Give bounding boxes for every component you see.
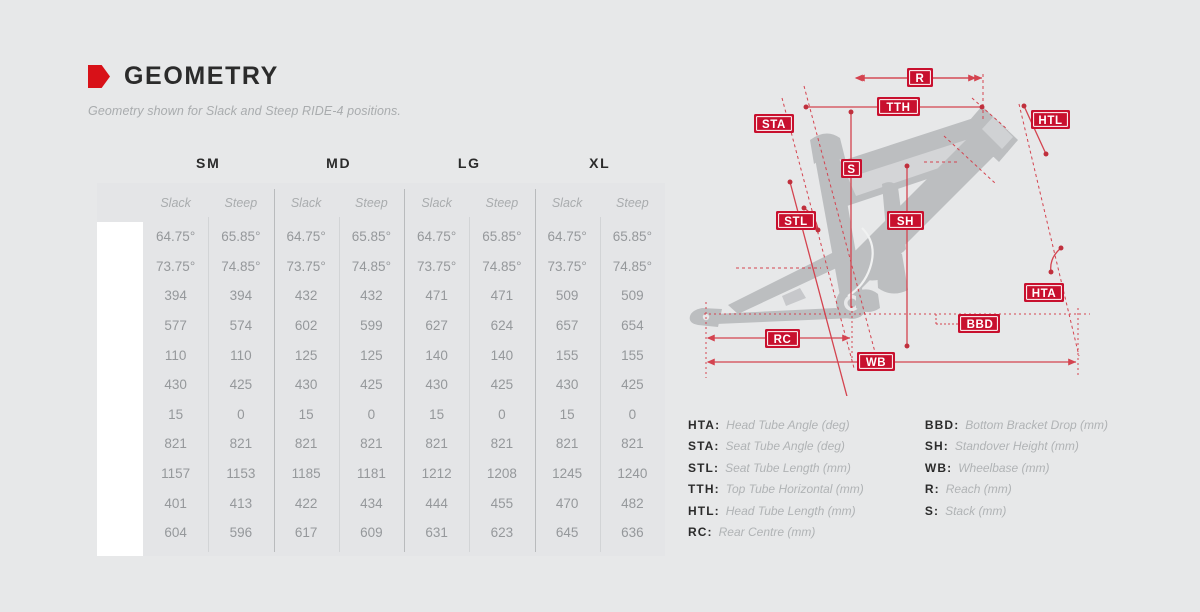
size-header-xl: XL [535,155,666,183]
cell-rc-xl-steep: 425 [600,377,665,392]
red-triangle-flag-icon [88,65,110,88]
cell-stl-md-steep: 432 [339,288,404,303]
cell-htl-lg-slack: 140 [404,348,469,363]
cell-sh-lg-steep: 821 [469,436,534,451]
svg-text:SH: SH [897,216,914,228]
legend-item: R:Reach (mm) [925,482,1108,503]
cell-htl-md-steep: 125 [339,348,404,363]
cell-stl-sm-slack: 394 [143,288,208,303]
cell-hta-lg-steep: 65.85° [469,229,534,244]
page-subtitle: Geometry shown for Slack and Steep RIDE-… [88,104,401,118]
cell-s-xl-steep: 636 [600,525,665,540]
geometry-table: SM MD LG XL Slack Steep Slack Steep Slac… [97,155,665,556]
position-header-lg-slack: Slack [404,196,469,210]
column-separator-minor [339,217,340,552]
cell-sh-xl-slack: 821 [535,436,600,451]
legend-item: TTH:Top Tube Horizontal (mm) [688,482,899,503]
cell-r-md-steep: 434 [339,496,404,511]
legend-column-right: BBD:Bottom Bracket Drop (mm)SH:Standover… [925,418,1108,546]
cell-sta-xl-steep: 74.85° [600,259,665,274]
legend: HTA:Head Tube Angle (deg)STA:Seat Tube A… [688,418,1108,546]
position-header-md-steep: Steep [339,196,404,210]
table-row: STL394394432432471471509509 [97,281,665,311]
cell-bbd-lg-slack: 15 [404,407,469,422]
cell-rc-sm-slack: 430 [143,377,208,392]
cell-sta-lg-steep: 74.85° [469,259,534,274]
cell-s-md-slack: 617 [274,525,339,540]
cell-sta-lg-slack: 73.75° [404,259,469,274]
cell-wb-xl-slack: 1245 [535,466,600,481]
cell-sh-sm-slack: 821 [143,436,208,451]
cell-sh-sm-steep: 821 [208,436,273,451]
column-separator-major [274,189,275,552]
column-separator-minor [469,217,470,552]
callout-bbd: BBD [958,314,1000,333]
cell-r-sm-slack: 401 [143,496,208,511]
table-body: Slack Steep Slack Steep Slack Steep Slac… [97,183,665,556]
cell-sta-sm-slack: 73.75° [143,259,208,274]
legend-description: Bottom Bracket Drop (mm) [965,418,1108,432]
cell-hta-xl-slack: 64.75° [535,229,600,244]
cell-s-sm-slack: 604 [143,525,208,540]
cell-rc-lg-slack: 430 [404,377,469,392]
cell-s-lg-slack: 631 [404,525,469,540]
cell-hta-xl-steep: 65.85° [600,229,665,244]
cell-htl-lg-steep: 140 [469,348,534,363]
svg-text:BBD: BBD [967,319,994,331]
callout-r: R [907,68,933,87]
svg-text:R: R [916,73,925,85]
position-header-lg-steep: Steep [469,196,534,210]
legend-item: HTL:Head Tube Length (mm) [688,504,899,525]
cell-tth-md-steep: 599 [339,318,404,333]
legend-description: Head Tube Angle (deg) [726,418,849,432]
table-rows: HTA64.75°65.85°64.75°65.85°64.75°65.85°6… [97,222,665,556]
legend-description: Rear Centre (mm) [719,525,816,539]
size-header-spacer [97,155,143,183]
cell-sta-md-slack: 73.75° [274,259,339,274]
cell-wb-lg-steep: 1208 [469,466,534,481]
cell-htl-xl-steep: 155 [600,348,665,363]
legend-item: WB:Wheelbase (mm) [925,461,1108,482]
cell-htl-md-slack: 125 [274,348,339,363]
cell-htl-xl-slack: 155 [535,348,600,363]
position-header-xl-slack: Slack [535,196,600,210]
position-header-row: Slack Steep Slack Steep Slack Steep Slac… [97,183,665,222]
cell-bbd-sm-slack: 15 [143,407,208,422]
legend-abbr: STL: [688,461,719,475]
cell-s-md-steep: 609 [339,525,404,540]
legend-abbr: HTA: [688,418,720,432]
cell-wb-sm-steep: 1153 [208,466,273,481]
cell-hta-lg-slack: 64.75° [404,229,469,244]
legend-description: Seat Tube Length (mm) [725,461,851,475]
cell-r-xl-steep: 482 [600,496,665,511]
cell-stl-lg-slack: 471 [404,288,469,303]
svg-text:RC: RC [774,334,792,346]
legend-abbr: WB: [925,461,952,475]
svg-text:TTH: TTH [886,102,910,114]
callout-rc: RC [765,329,800,348]
cell-r-sm-steep: 413 [208,496,273,511]
svg-text:WB: WB [866,357,886,369]
callout-sta: STA [754,114,794,133]
size-header-md: MD [274,155,405,183]
cell-sh-md-slack: 821 [274,436,339,451]
cell-sh-lg-slack: 821 [404,436,469,451]
cell-tth-lg-slack: 627 [404,318,469,333]
cell-rc-sm-steep: 425 [208,377,273,392]
size-header-lg: LG [404,155,535,183]
legend-item: HTA:Head Tube Angle (deg) [688,418,899,439]
callout-htl: HTL [1031,110,1070,129]
title-row: GEOMETRY [88,62,401,91]
column-separator-minor [600,217,601,552]
cell-hta-sm-slack: 64.75° [143,229,208,244]
cell-r-lg-slack: 444 [404,496,469,511]
cell-stl-xl-steep: 509 [600,288,665,303]
cell-rc-md-slack: 430 [274,377,339,392]
cell-stl-sm-steep: 394 [208,288,273,303]
position-header-sm-steep: Steep [208,196,273,210]
legend-item: S:Stack (mm) [925,504,1108,525]
cell-s-lg-steep: 623 [469,525,534,540]
column-separator-major [404,189,405,552]
cell-r-lg-steep: 455 [469,496,534,511]
position-header-md-slack: Slack [274,196,339,210]
cell-tth-md-slack: 602 [274,318,339,333]
cell-rc-lg-steep: 425 [469,377,534,392]
table-row: SH821821821821821821821821 [97,429,665,459]
table-row: TTH577574602599627624657654 [97,311,665,341]
callout-badges: R TTH STA HTL S STL [754,68,1070,371]
cell-s-sm-steep: 596 [208,525,273,540]
legend-abbr: TTH: [688,482,720,496]
position-header-xl-steep: Steep [600,196,665,210]
callout-hta: HTA [1024,283,1064,302]
table-row: WB11571153118511811212120812451240 [97,459,665,489]
svg-text:STL: STL [784,216,808,228]
cell-hta-md-steep: 65.85° [339,229,404,244]
legend-description: Standover Height (mm) [955,439,1079,453]
page-header: GEOMETRY Geometry shown for Slack and St… [88,62,401,118]
cell-bbd-md-steep: 0 [339,407,404,422]
cell-r-xl-slack: 470 [535,496,600,511]
cell-r-md-slack: 422 [274,496,339,511]
table-row: STA73.75°74.85°73.75°74.85°73.75°74.85°7… [97,252,665,282]
cell-wb-md-steep: 1181 [339,466,404,481]
callout-sh: SH [887,211,924,230]
bike-geometry-diagram: R TTH STA HTL S STL [686,56,1116,396]
cell-tth-xl-slack: 657 [535,318,600,333]
legend-abbr: S: [925,504,939,518]
page-title: GEOMETRY [124,62,279,91]
cell-bbd-sm-steep: 0 [208,407,273,422]
legend-item: SH:Standover Height (mm) [925,439,1108,460]
cell-tth-xl-steep: 654 [600,318,665,333]
legend-abbr: R: [925,482,940,496]
callout-wb: WB [857,352,895,371]
svg-text:HTL: HTL [1038,115,1062,127]
legend-abbr: SH: [925,439,949,453]
cell-wb-sm-slack: 1157 [143,466,208,481]
cell-s-xl-slack: 645 [535,525,600,540]
cell-tth-sm-steep: 574 [208,318,273,333]
cell-sh-xl-steep: 821 [600,436,665,451]
size-header-row: SM MD LG XL [97,155,665,183]
legend-abbr: HTL: [688,504,720,518]
legend-abbr: STA: [688,439,720,453]
cell-sh-md-steep: 821 [339,436,404,451]
cell-hta-md-slack: 64.75° [274,229,339,244]
row-label-column-background [97,222,143,556]
legend-abbr: RC: [688,525,713,539]
legend-description: Reach (mm) [946,482,1012,496]
legend-description: Seat Tube Angle (deg) [726,439,845,453]
svg-text:HTA: HTA [1032,288,1057,300]
cell-sta-xl-slack: 73.75° [535,259,600,274]
legend-item: RC:Rear Centre (mm) [688,525,899,546]
cell-sta-md-steep: 74.85° [339,259,404,274]
legend-description: Wheelbase (mm) [958,461,1049,475]
cell-stl-lg-steep: 471 [469,288,534,303]
table-row: S604596617609631623645636 [97,518,665,548]
cell-wb-xl-steep: 1240 [600,466,665,481]
cell-rc-md-steep: 425 [339,377,404,392]
cell-tth-lg-steep: 624 [469,318,534,333]
cell-sta-sm-steep: 74.85° [208,259,273,274]
frame-silhouette [690,106,1018,327]
table-row: HTA64.75°65.85°64.75°65.85°64.75°65.85°6… [97,222,665,252]
cell-bbd-xl-slack: 15 [535,407,600,422]
callout-s: S [841,159,862,178]
cell-htl-sm-steep: 110 [208,348,273,363]
cell-wb-md-slack: 1185 [274,466,339,481]
legend-description: Top Tube Horizontal (mm) [726,482,864,496]
legend-item: STA:Seat Tube Angle (deg) [688,439,899,460]
table-row: R401413422434444455470482 [97,488,665,518]
table-row: BBD150150150150 [97,400,665,430]
cell-wb-lg-slack: 1212 [404,466,469,481]
legend-item: BBD:Bottom Bracket Drop (mm) [925,418,1108,439]
cell-stl-xl-slack: 509 [535,288,600,303]
svg-text:STA: STA [762,119,786,131]
cell-bbd-md-slack: 15 [274,407,339,422]
callout-stl: STL [776,211,816,230]
position-header-sm-slack: Slack [143,196,208,210]
table-row: RC430425430425430425430425 [97,370,665,400]
size-header-sm: SM [143,155,274,183]
column-separator-minor [208,217,209,552]
legend-abbr: BBD: [925,418,959,432]
cell-stl-md-slack: 432 [274,288,339,303]
legend-description: Head Tube Length (mm) [726,504,856,518]
legend-item: STL:Seat Tube Length (mm) [688,461,899,482]
cell-rc-xl-slack: 430 [535,377,600,392]
cell-bbd-xl-steep: 0 [600,407,665,422]
cell-htl-sm-slack: 110 [143,348,208,363]
column-separator-major [535,189,536,552]
legend-description: Stack (mm) [945,504,1006,518]
callout-tth: TTH [877,97,920,116]
cell-bbd-lg-steep: 0 [469,407,534,422]
cell-hta-sm-steep: 65.85° [208,229,273,244]
legend-column-left: HTA:Head Tube Angle (deg)STA:Seat Tube A… [688,418,899,546]
table-row: HTL110110125125140140155155 [97,340,665,370]
svg-text:S: S [847,164,855,176]
cell-tth-sm-slack: 577 [143,318,208,333]
